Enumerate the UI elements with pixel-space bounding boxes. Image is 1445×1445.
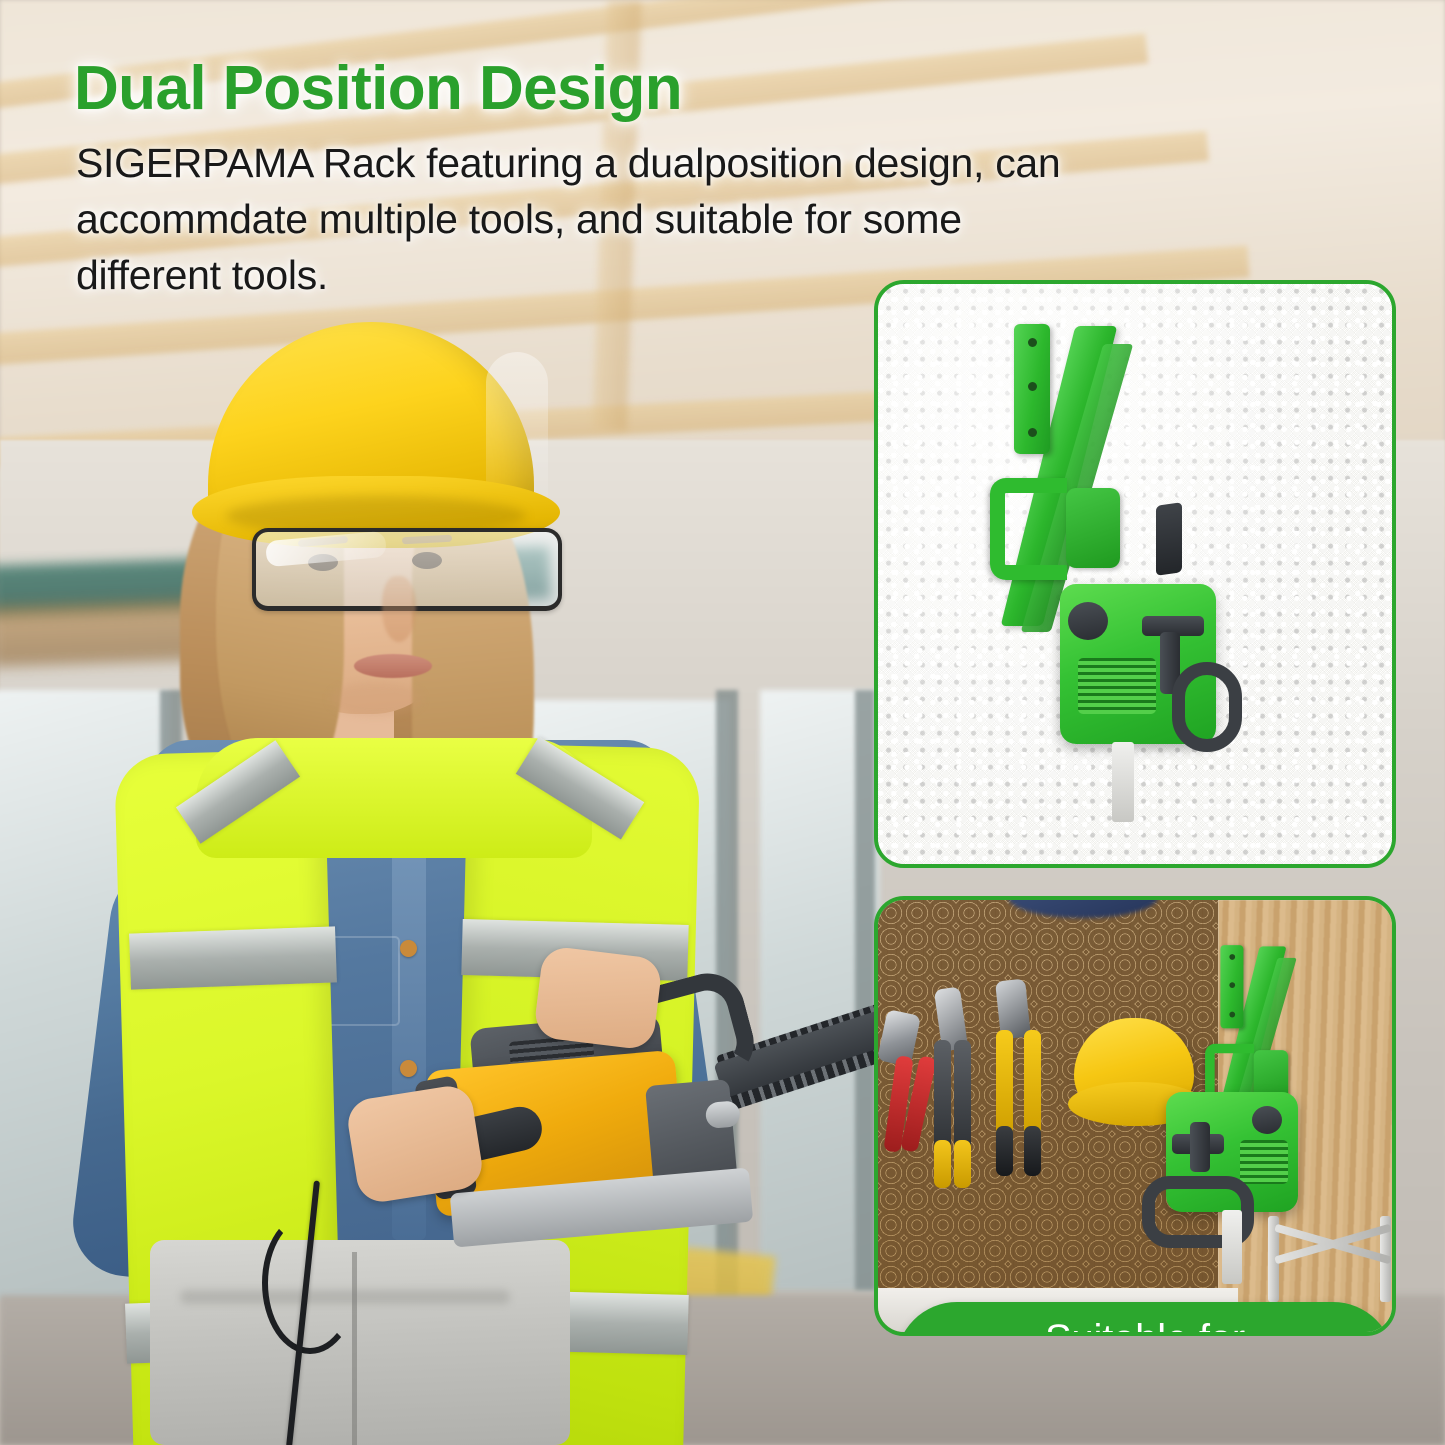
- cable-cutter-grip: [996, 1126, 1013, 1176]
- bolt-cutter-grip: [934, 1140, 951, 1188]
- rack-screw-hole: [1229, 954, 1235, 960]
- chainsaw-vent: [1240, 1140, 1288, 1184]
- tool-rack-bracket: [1214, 940, 1329, 1068]
- page-title: Dual Position Design: [74, 56, 1054, 121]
- chainsaw-tension-nut: [705, 1100, 741, 1129]
- panel-suitable-tools[interactable]: Suitable for different tools: [874, 896, 1396, 1336]
- chainsaw-fuel-cap: [1068, 602, 1108, 640]
- caption-line-1: Suitable for: [1027, 1316, 1263, 1336]
- nose: [382, 576, 416, 642]
- caption-suitable-tools: Suitable for different tools: [896, 1302, 1394, 1336]
- lips: [354, 654, 432, 678]
- green-chainsaw: [1060, 566, 1270, 766]
- chainsaw-trigger-bar: [1190, 1122, 1210, 1172]
- rack-screw-hole: [1028, 382, 1037, 391]
- step-ladder: [1268, 1216, 1396, 1302]
- jeans: [150, 1240, 570, 1445]
- rack-support-pad: [1066, 488, 1120, 568]
- chin-shadow: [330, 682, 422, 716]
- rack-hook: [990, 478, 1067, 580]
- right-hand: [533, 945, 663, 1051]
- rack-screw-hole: [1028, 428, 1037, 437]
- bolt-cutter-shaft: [954, 1040, 971, 1152]
- cable-cutter-handle: [996, 1030, 1013, 1136]
- product-infographic: Dual Position Design SIGERPAMA Rack feat…: [0, 0, 1445, 1445]
- chainsaw-rear-handle: [1172, 662, 1242, 752]
- chainsaw-guide-bar: [1222, 1210, 1242, 1284]
- bolt-cutter-grip: [954, 1140, 971, 1188]
- chainsaw-guide-bar: [1112, 742, 1134, 822]
- chainsaw-fuel-cap: [1252, 1106, 1282, 1134]
- cable-cutter-handle: [1024, 1030, 1041, 1136]
- chainsaw-vent: [1078, 658, 1156, 714]
- rack-dark-bracket: [1156, 502, 1182, 576]
- body-description: SIGERPAMA Rack featuring a dualposition …: [76, 136, 1116, 303]
- rack-screw-hole: [1229, 982, 1235, 988]
- reflective-strip: [129, 926, 337, 989]
- panel-stabilised-hooking[interactable]: Stabilised hooking up of various tools: [874, 280, 1396, 868]
- rack-screw-hole: [1229, 1012, 1235, 1018]
- bolt-cutter-shaft: [934, 1040, 951, 1152]
- cable-cutter-grip: [1024, 1126, 1041, 1176]
- rack-screw-hole: [1028, 338, 1037, 347]
- left-hand: [345, 1083, 486, 1205]
